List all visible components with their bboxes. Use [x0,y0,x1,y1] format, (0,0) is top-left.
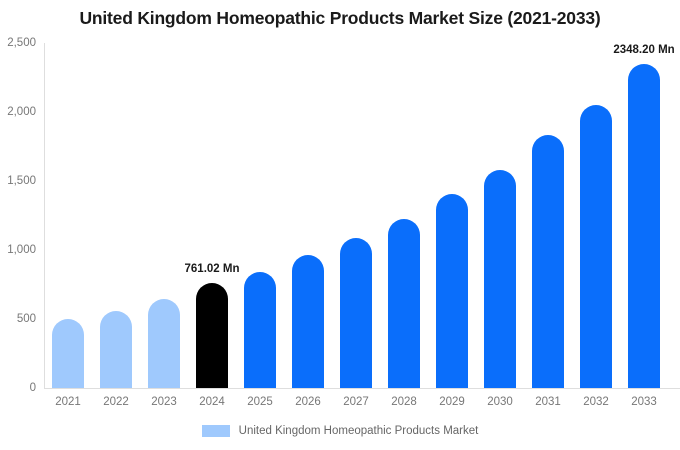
bar[interactable] [244,272,276,388]
x-axis-tick-label: 2031 [524,396,572,408]
bar[interactable] [100,311,132,388]
bar[interactable] [196,283,228,388]
x-axis-tick-label: 2029 [428,396,476,408]
y-axis-tick-label: 2,000 [0,106,36,118]
bar[interactable] [292,255,324,388]
y-axis-line [44,43,45,388]
x-axis-tick-label: 2028 [380,396,428,408]
legend-swatch-icon [202,425,230,437]
x-axis-tick-label: 2021 [44,396,92,408]
bar-chart: United Kingdom Homeopathic Products Mark… [0,0,680,450]
y-axis-tick-label: 1,000 [0,244,36,256]
chart-title: United Kingdom Homeopathic Products Mark… [0,8,680,29]
bar[interactable] [532,135,564,388]
legend-label: United Kingdom Homeopathic Products Mark… [239,425,479,437]
y-axis-tick-label: 2,500 [0,37,36,49]
chart-legend: United Kingdom Homeopathic Products Mark… [0,425,680,437]
bar[interactable] [340,238,372,388]
x-axis-line [44,388,680,389]
x-axis-tick-label: 2023 [140,396,188,408]
y-axis-tick-label: 500 [0,313,36,325]
x-axis-tick-label: 2025 [236,396,284,408]
bar-value-label: 761.02 Mn [185,263,240,275]
x-axis-tick-label: 2033 [620,396,668,408]
x-axis-tick-label: 2026 [284,396,332,408]
x-axis-tick-label: 2030 [476,396,524,408]
x-axis-tick-label: 2024 [188,396,236,408]
x-axis-tick-label: 2032 [572,396,620,408]
bar[interactable] [436,194,468,388]
bar[interactable] [484,170,516,388]
x-axis-tick-label: 2027 [332,396,380,408]
x-axis-tick-label: 2022 [92,396,140,408]
y-axis-tick-label: 1,500 [0,175,36,187]
y-axis-tick-label: 0 [0,382,36,394]
bar[interactable] [52,319,84,388]
bar[interactable] [388,219,420,388]
bar[interactable] [148,299,180,388]
bar[interactable] [580,105,612,388]
bar[interactable] [628,64,660,388]
bar-value-label: 2348.20 Mn [613,44,674,56]
